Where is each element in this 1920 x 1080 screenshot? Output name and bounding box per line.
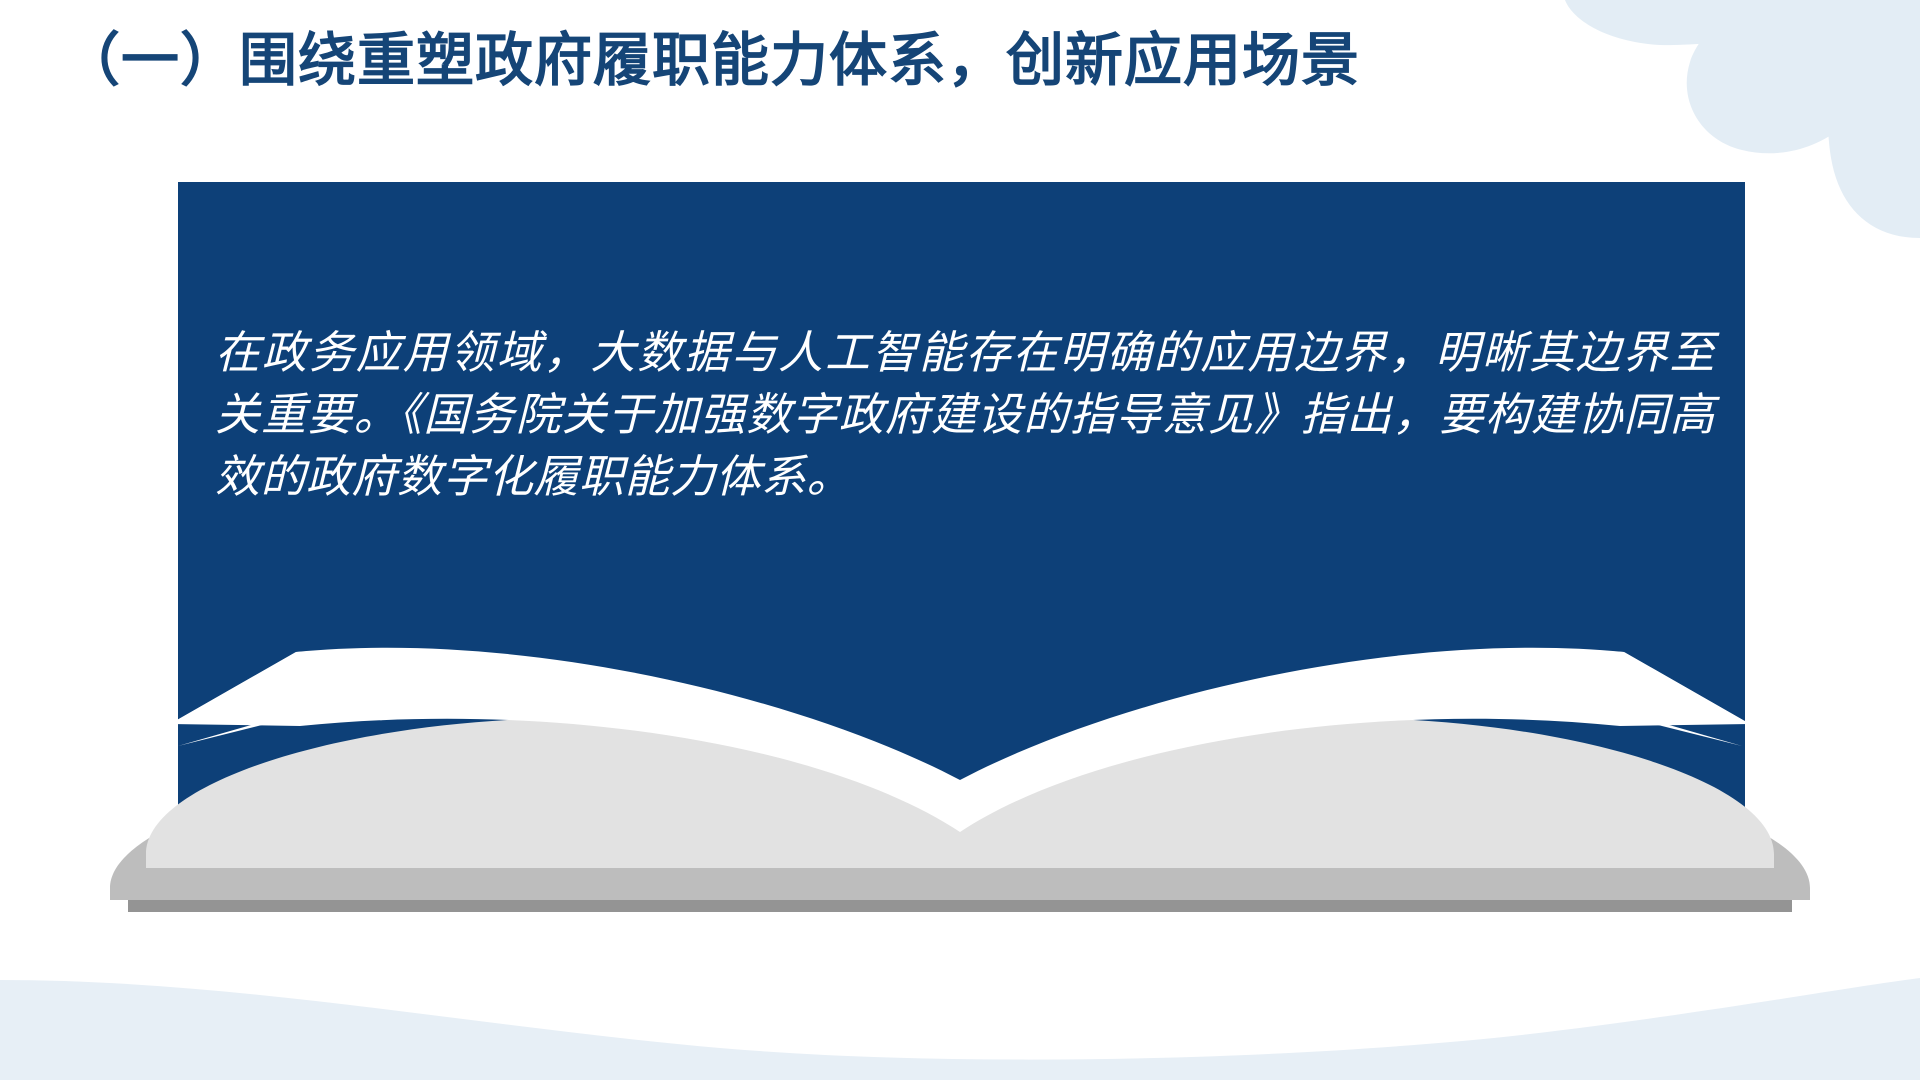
decorative-wave-bottom-left (0, 978, 1920, 1080)
content-panel: 在政务应用领域，大数据与人工智能存在明确的应用边界，明晰其边界至关重要。《国务院… (178, 182, 1745, 817)
body-paragraph: 在政务应用领域，大数据与人工智能存在明确的应用边界，明晰其边界至关重要。《国务院… (215, 322, 1715, 508)
presentation-slide: （一）围绕重塑政府履职能力体系，创新应用场景 在政务应用领域，大数据与人工智能存… (0, 0, 1920, 1080)
decorative-wave-top-right (1687, 0, 1878, 153)
page-title: （一）围绕重塑政府履职能力体系，创新应用场景 (62, 26, 1562, 94)
